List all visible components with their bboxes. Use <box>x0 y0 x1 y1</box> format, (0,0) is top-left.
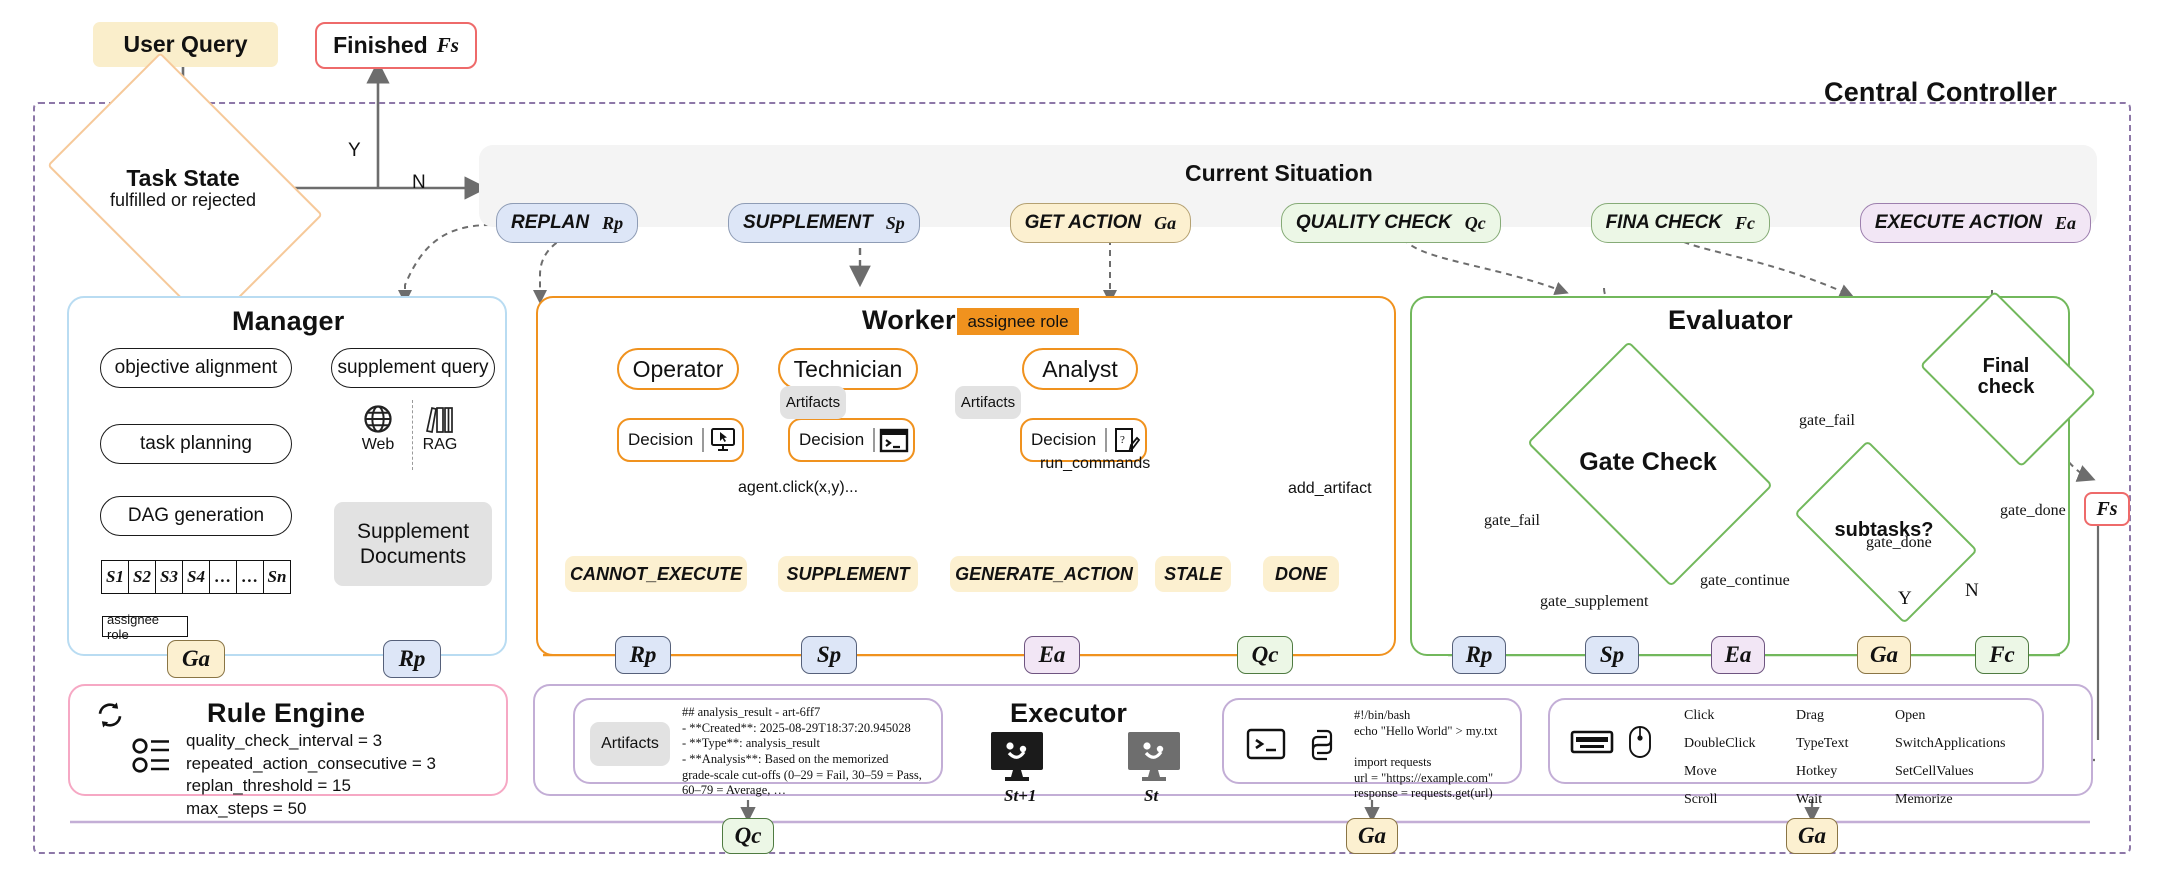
subtasks-decision[interactable]: subtasks? <box>1808 480 1960 580</box>
mouse-icon <box>1627 725 1653 764</box>
worker-terminal-rp[interactable]: Rp <box>615 636 671 674</box>
edge-gate-fail-right: gate_fail <box>1799 412 1855 430</box>
supplement-documents: Supplement Documents <box>334 502 492 586</box>
manager-step-dag-generation: DAG generation <box>100 496 292 536</box>
note-pencil-icon: ? <box>1107 427 1145 454</box>
rule-item: replan_threshold = 15 <box>186 775 436 798</box>
worker-role-technician[interactable]: Technician <box>778 348 918 390</box>
worker-artifacts-right: Artifacts <box>955 386 1021 419</box>
gate-check-label: Gate Check <box>1548 392 1748 532</box>
action-item: Scroll <box>1684 786 1756 814</box>
situation-chip-rp[interactable]: REPLANRp <box>496 203 638 243</box>
decision-label: Decision <box>1022 430 1105 450</box>
worker-edge-label-add-artifact: add_artifact <box>1288 480 1372 498</box>
evaluator-finished-fs[interactable]: Fs <box>2084 492 2130 526</box>
subtask-cell: S2 <box>129 561 156 593</box>
chip-tag: Fc <box>1735 213 1755 234</box>
situation-chip-ea[interactable]: EXECUTE ACTIONEa <box>1860 203 2091 243</box>
action-item: SwitchApplications <box>1895 730 2005 758</box>
branch-no-label: N <box>412 172 426 194</box>
subtask-cell: … <box>210 561 237 593</box>
worker-role-operator[interactable]: Operator <box>617 348 739 390</box>
action-item: Hotkey <box>1796 758 1848 786</box>
refresh-icon <box>95 700 125 735</box>
chip-label: GET ACTION <box>1025 212 1141 234</box>
worker-terminal-ea[interactable]: Ea <box>1024 636 1080 674</box>
branch-yes-label: Y <box>348 140 361 162</box>
situation-chip-sp[interactable]: SUPPLEMENTSp <box>728 203 920 243</box>
chip-label: FINA CHECK <box>1606 212 1722 234</box>
globe-icon <box>363 404 393 434</box>
state-prev-icon <box>989 730 1045 787</box>
executor-code-output-ga[interactable]: Ga <box>1346 818 1398 854</box>
python-icon <box>1305 728 1339 767</box>
rule-item: repeated_action_consecutive = 3 <box>186 753 436 776</box>
rag-label: RAG <box>423 436 458 454</box>
subtasks-label: subtasks? <box>1808 480 1960 580</box>
state-cur-icon <box>1126 730 1182 787</box>
rule-item: max_steps = 50 <box>186 798 436 821</box>
edge-gate-supplement: gate_supplement <box>1540 593 1648 611</box>
edge-gate-done-right: gate_done <box>2000 502 2066 520</box>
executor-artifact-text: ## analysis_result - art-6ff7 - **Create… <box>682 705 937 799</box>
evaluator-terminal-fc[interactable]: Fc <box>1975 636 2029 674</box>
rule-engine-title: Rule Engine <box>207 698 365 729</box>
finished-label: Finished <box>333 32 428 59</box>
decision-label: Decision <box>790 430 873 450</box>
action-item: Move <box>1684 758 1756 786</box>
chip-tag: Qc <box>1465 213 1486 234</box>
central-controller-title: Central Controller <box>1824 77 2057 108</box>
action-item: Memorize <box>1895 786 2005 814</box>
action-item: Click <box>1684 702 1756 730</box>
web-label: Web <box>362 436 395 454</box>
evaluator-terminal-ga[interactable]: Ga <box>1857 636 1911 674</box>
final-check-decision[interactable]: Final check <box>1936 326 2076 428</box>
edge-subtasks-no: N <box>1965 580 1979 602</box>
worker-title: Worker <box>862 305 956 336</box>
evaluator-terminal-sp[interactable]: Sp <box>1585 636 1639 674</box>
subtask-cell: … <box>237 561 264 593</box>
manager-step-objective-alignment: objective alignment <box>100 348 292 388</box>
manager-assignee-role-label: assignee role <box>102 616 188 637</box>
evaluator-title: Evaluator <box>1668 305 1793 336</box>
chip-label: QUALITY CHECK <box>1296 212 1452 234</box>
worker-outcome-generate-action: GENERATE_ACTION <box>950 556 1138 592</box>
chip-tag: Rp <box>602 213 623 234</box>
manager-supplement-query: supplement query <box>331 348 495 388</box>
subtask-cell: S4 <box>183 561 210 593</box>
chip-tag: Ea <box>2055 213 2076 234</box>
task-state-subtitle: fulfilled or rejected <box>110 191 256 210</box>
worker-outcome-stale: STALE <box>1155 556 1231 592</box>
action-item: DoubleClick <box>1684 730 1756 758</box>
user-query-node: User Query <box>93 22 278 67</box>
worker-decision-operator[interactable]: Decision <box>617 418 744 462</box>
situation-chip-ga[interactable]: GET ACTIONGa <box>1010 203 1191 243</box>
edge-gate-continue: gate_continue <box>1700 572 1790 590</box>
subtask-cell: S1 <box>102 561 129 593</box>
executor-actions-col-3: OpenSwitchApplicationsSetCellValuesMemor… <box>1895 702 2005 814</box>
keyboard-icon <box>1570 728 1614 761</box>
worker-edge-label-click: agent.click(x,y)... <box>738 479 858 497</box>
worker-terminal-qc[interactable]: Qc <box>1237 636 1293 674</box>
situation-chip-qc[interactable]: QUALITY CHECKQc <box>1281 203 1501 243</box>
rag-source: RAG <box>417 404 463 464</box>
worker-outcome-cannot-execute: CANNOT_EXECUTE <box>565 556 747 592</box>
svg-text:?: ? <box>1120 434 1125 446</box>
action-item: Open <box>1895 702 2005 730</box>
manager-output-ga[interactable]: Ga <box>167 640 225 678</box>
source-divider <box>412 400 413 470</box>
manager-step-task-planning: task planning <box>100 424 292 464</box>
manager-subtask-sequence: S1S2S3S4……Sn <box>101 560 291 594</box>
evaluator-terminal-rp[interactable]: Rp <box>1452 636 1506 674</box>
state-cur-label: St <box>1144 786 1158 806</box>
situation-chip-row: REPLANRpSUPPLEMENTSpGET ACTIONGaQUALITY … <box>496 202 2091 244</box>
rule-item: quality_check_interval = 3 <box>186 730 436 753</box>
action-item: Wait <box>1796 786 1848 814</box>
executor-code-text: #!/bin/bash echo "Hello World" > my.txt … <box>1354 708 1497 802</box>
evaluator-terminal-ea[interactable]: Ea <box>1711 636 1765 674</box>
finished-node: Finished Fs <box>315 22 477 69</box>
state-prev-label: St+1 <box>1004 786 1036 806</box>
manager-title: Manager <box>232 306 344 337</box>
diagram-canvas: Central Controller User Query Finished F… <box>0 0 2161 879</box>
books-icon <box>424 404 456 434</box>
rule-engine-rules: quality_check_interval = 3repeated_actio… <box>186 730 436 820</box>
executor-actions-output-ga[interactable]: Ga <box>1786 818 1838 854</box>
chip-tag: Ga <box>1154 213 1176 234</box>
web-source: Web <box>358 404 398 464</box>
task-state-decision: Task State fulfilled or rejected <box>70 110 296 266</box>
edge-subtasks-yes: Y <box>1898 588 1912 610</box>
manager-output-rp[interactable]: Rp <box>383 640 441 678</box>
worker-role-analyst[interactable]: Analyst <box>1022 348 1138 390</box>
action-item: TypeText <box>1796 730 1848 758</box>
monitor-cursor-icon <box>704 427 742 453</box>
decision-label: Decision <box>619 430 702 450</box>
terminal-icon <box>875 428 913 453</box>
chip-label: EXECUTE ACTION <box>1875 212 2042 234</box>
executor-artifact-output-qc[interactable]: Qc <box>722 818 774 854</box>
worker-outcome-supplement: SUPPLEMENT <box>778 556 918 592</box>
chip-tag: Sp <box>886 213 905 234</box>
action-item: SetCellValues <box>1895 758 2005 786</box>
executor-title: Executor <box>1010 698 1127 729</box>
situation-chip-fc[interactable]: FINA CHECKFc <box>1591 203 1770 243</box>
edge-gate-fail-left: gate_fail <box>1484 512 1540 530</box>
worker-edge-label-run-commands: run_commands <box>1040 455 1150 473</box>
terminal-icon <box>1246 728 1286 765</box>
gate-check-decision[interactable]: Gate Check <box>1548 392 1748 532</box>
worker-outcome-done: DONE <box>1263 556 1339 592</box>
current-situation-title: Current Situation <box>1185 160 1373 187</box>
executor-actions-col-1: ClickDoubleClickMoveScroll <box>1684 702 1756 814</box>
edge-gate-done-mid: gate_done <box>1866 534 1932 552</box>
task-state-title: Task State <box>126 166 239 190</box>
worker-artifacts-left: Artifacts <box>780 386 846 419</box>
subtask-cell: S3 <box>156 561 183 593</box>
worker-assignee-role-badge: assignee role <box>957 308 1079 335</box>
subtask-cell: Sn <box>264 561 290 593</box>
worker-decision-technician[interactable]: Decision <box>788 418 915 462</box>
chip-label: SUPPLEMENT <box>743 212 873 234</box>
chip-label: REPLAN <box>511 212 589 234</box>
worker-terminal-sp[interactable]: Sp <box>801 636 857 674</box>
executor-artifacts-label: Artifacts <box>590 722 670 766</box>
list-icon <box>131 736 173 781</box>
final-check-label: Final check <box>1936 326 2076 428</box>
finished-tag: Fs <box>437 33 459 58</box>
action-item: Drag <box>1796 702 1848 730</box>
executor-actions-col-2: DragTypeTextHotkeyWait <box>1796 702 1848 814</box>
